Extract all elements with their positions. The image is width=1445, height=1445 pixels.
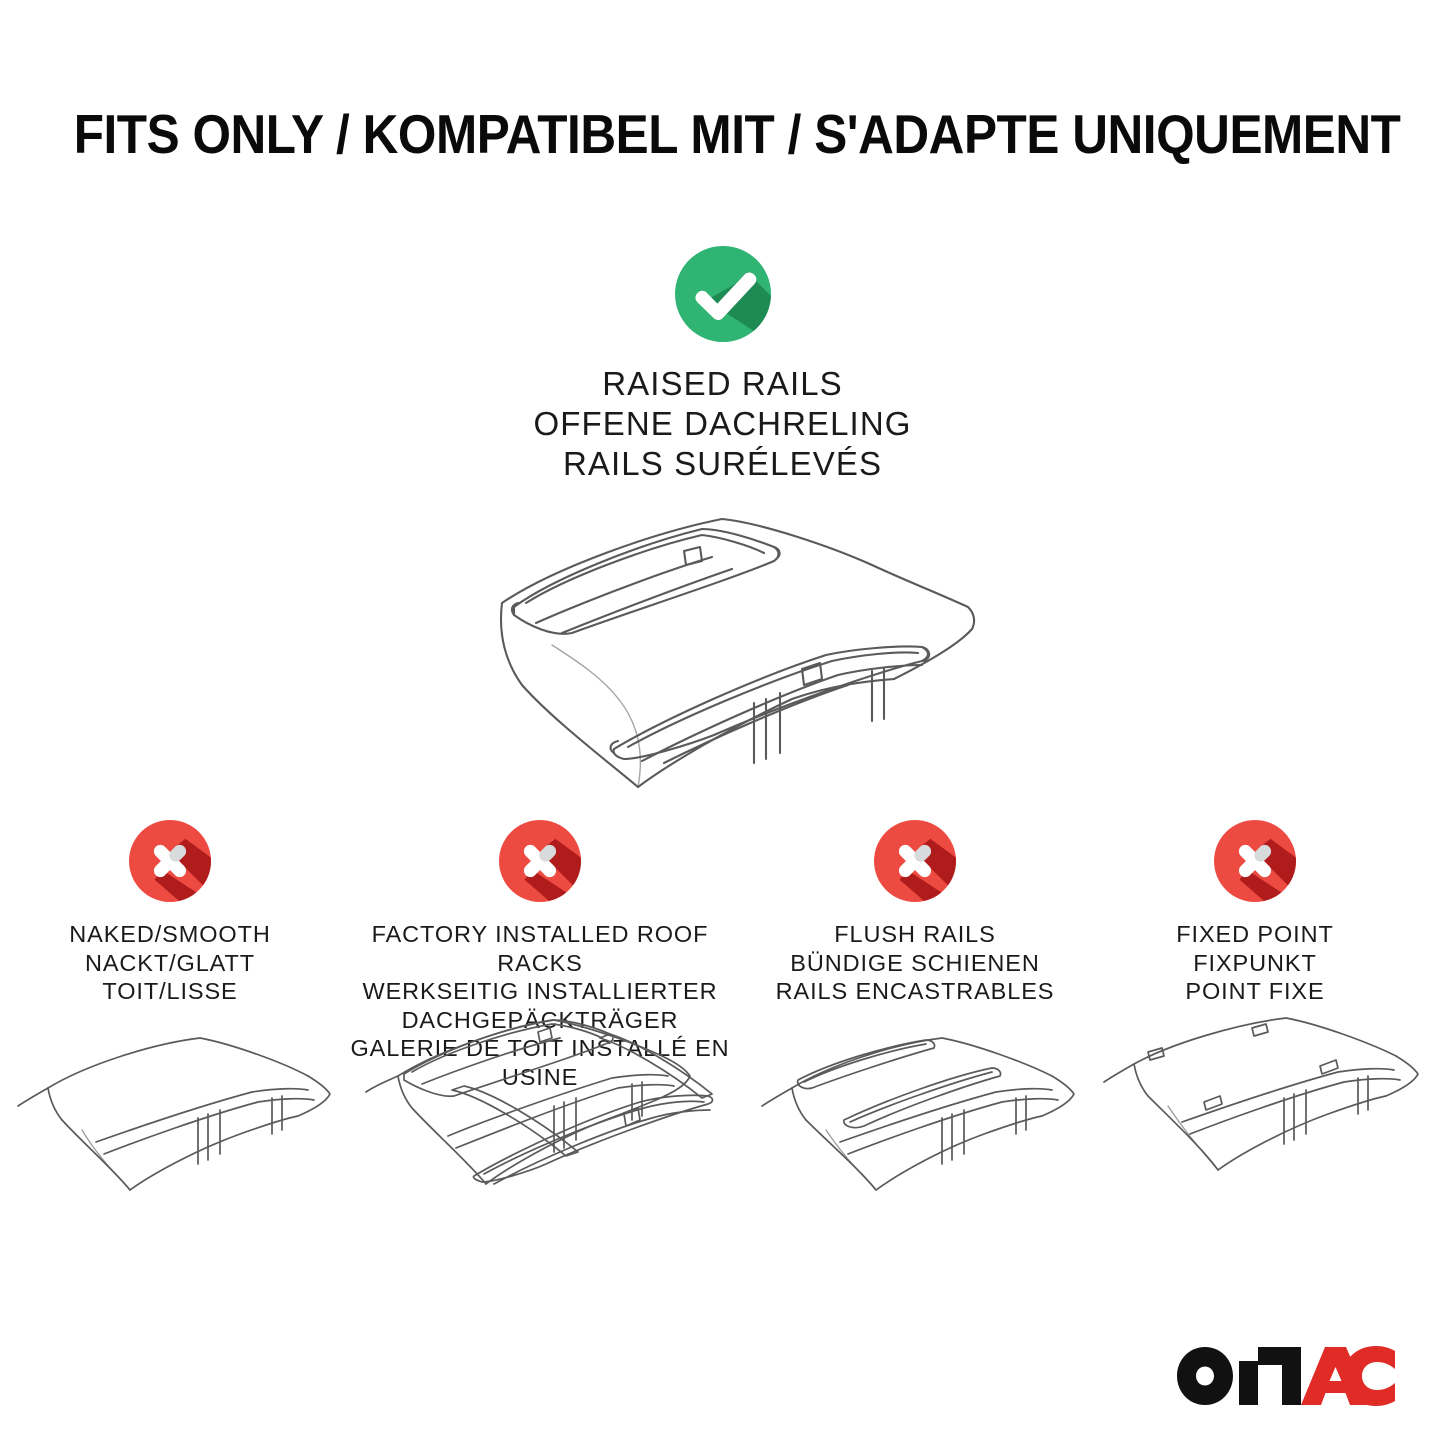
car-roof-flush-rails-figure [740, 1014, 1090, 1244]
x-glyph [129, 820, 211, 902]
car-roof-raised-rails-figure [402, 495, 1042, 795]
option-label-en: FIXED POINT [1090, 920, 1420, 949]
car-roof-fixed-point-figure [1090, 1006, 1420, 1236]
x-circle-icon [129, 820, 211, 902]
x-circle-icon [499, 820, 581, 902]
header: FITS ONLY / KOMPATIBEL MIT / S'ADAPTE UN… [0, 104, 1445, 164]
x-glyph [499, 820, 581, 902]
option-label-flush-rails: FLUSH RAILS BÜNDIGE SCHIENEN RAILS ENCAS… [740, 920, 1090, 1006]
option-flush-rails: FLUSH RAILS BÜNDIGE SCHIENEN RAILS ENCAS… [740, 820, 1090, 1006]
x-circle-icon [874, 820, 956, 902]
compatible-label-fr: RAILS SURÉLEVÉS [0, 444, 1445, 484]
car-roof-naked-figure [0, 1014, 340, 1244]
option-label-fr: RAILS ENCASTRABLES [740, 977, 1090, 1006]
option-factory-installed-roof-racks: FACTORY INSTALLED ROOF RACKS WERKSEITIG … [340, 820, 740, 1091]
page-title: FITS ONLY / KOMPATIBEL MIT / S'ADAPTE UN… [74, 104, 1401, 164]
compatible-section: RAISED RAILS OFFENE DACHRELING RAILS SUR… [0, 246, 1445, 484]
option-label-en: FACTORY INSTALLED ROOF RACKS [340, 920, 740, 977]
option-label-de: NACKT/GLATT [0, 949, 340, 978]
x-circle-icon [1214, 820, 1296, 902]
option-naked-smooth: NAKED/SMOOTH NACKT/GLATT TOIT/LISSE [0, 820, 340, 1006]
compatible-label-de: OFFENE DACHRELING [0, 404, 1445, 444]
check-glyph [675, 246, 771, 342]
x-glyph [1214, 820, 1296, 902]
car-roof-factory-racks-figure [340, 990, 740, 1240]
option-label-de: BÜNDIGE SCHIENEN [740, 949, 1090, 978]
option-label-naked-smooth: NAKED/SMOOTH NACKT/GLATT TOIT/LISSE [0, 920, 340, 1006]
check-circle-icon [675, 246, 771, 342]
option-label-de: FIXPUNKT [1090, 949, 1420, 978]
compatible-label-en: RAISED RAILS [0, 364, 1445, 404]
option-fixed-point: FIXED POINT FIXPUNKT POINT FIXE [1090, 820, 1420, 1006]
x-glyph [874, 820, 956, 902]
option-label-fr: TOIT/LISSE [0, 977, 340, 1006]
logo-letter-m [1239, 1347, 1301, 1405]
option-label-fr: POINT FIXE [1090, 977, 1420, 1006]
logo-letter-o [1177, 1347, 1233, 1405]
option-label-en: FLUSH RAILS [740, 920, 1090, 949]
option-label-fixed-point: FIXED POINT FIXPUNKT POINT FIXE [1090, 920, 1420, 1006]
omac-logo [1175, 1345, 1397, 1407]
compatible-label: RAISED RAILS OFFENE DACHRELING RAILS SUR… [0, 364, 1445, 484]
option-label-en: NAKED/SMOOTH [0, 920, 340, 949]
incompatible-section: NAKED/SMOOTH NACKT/GLATT TOIT/LISSE [0, 820, 1445, 1091]
